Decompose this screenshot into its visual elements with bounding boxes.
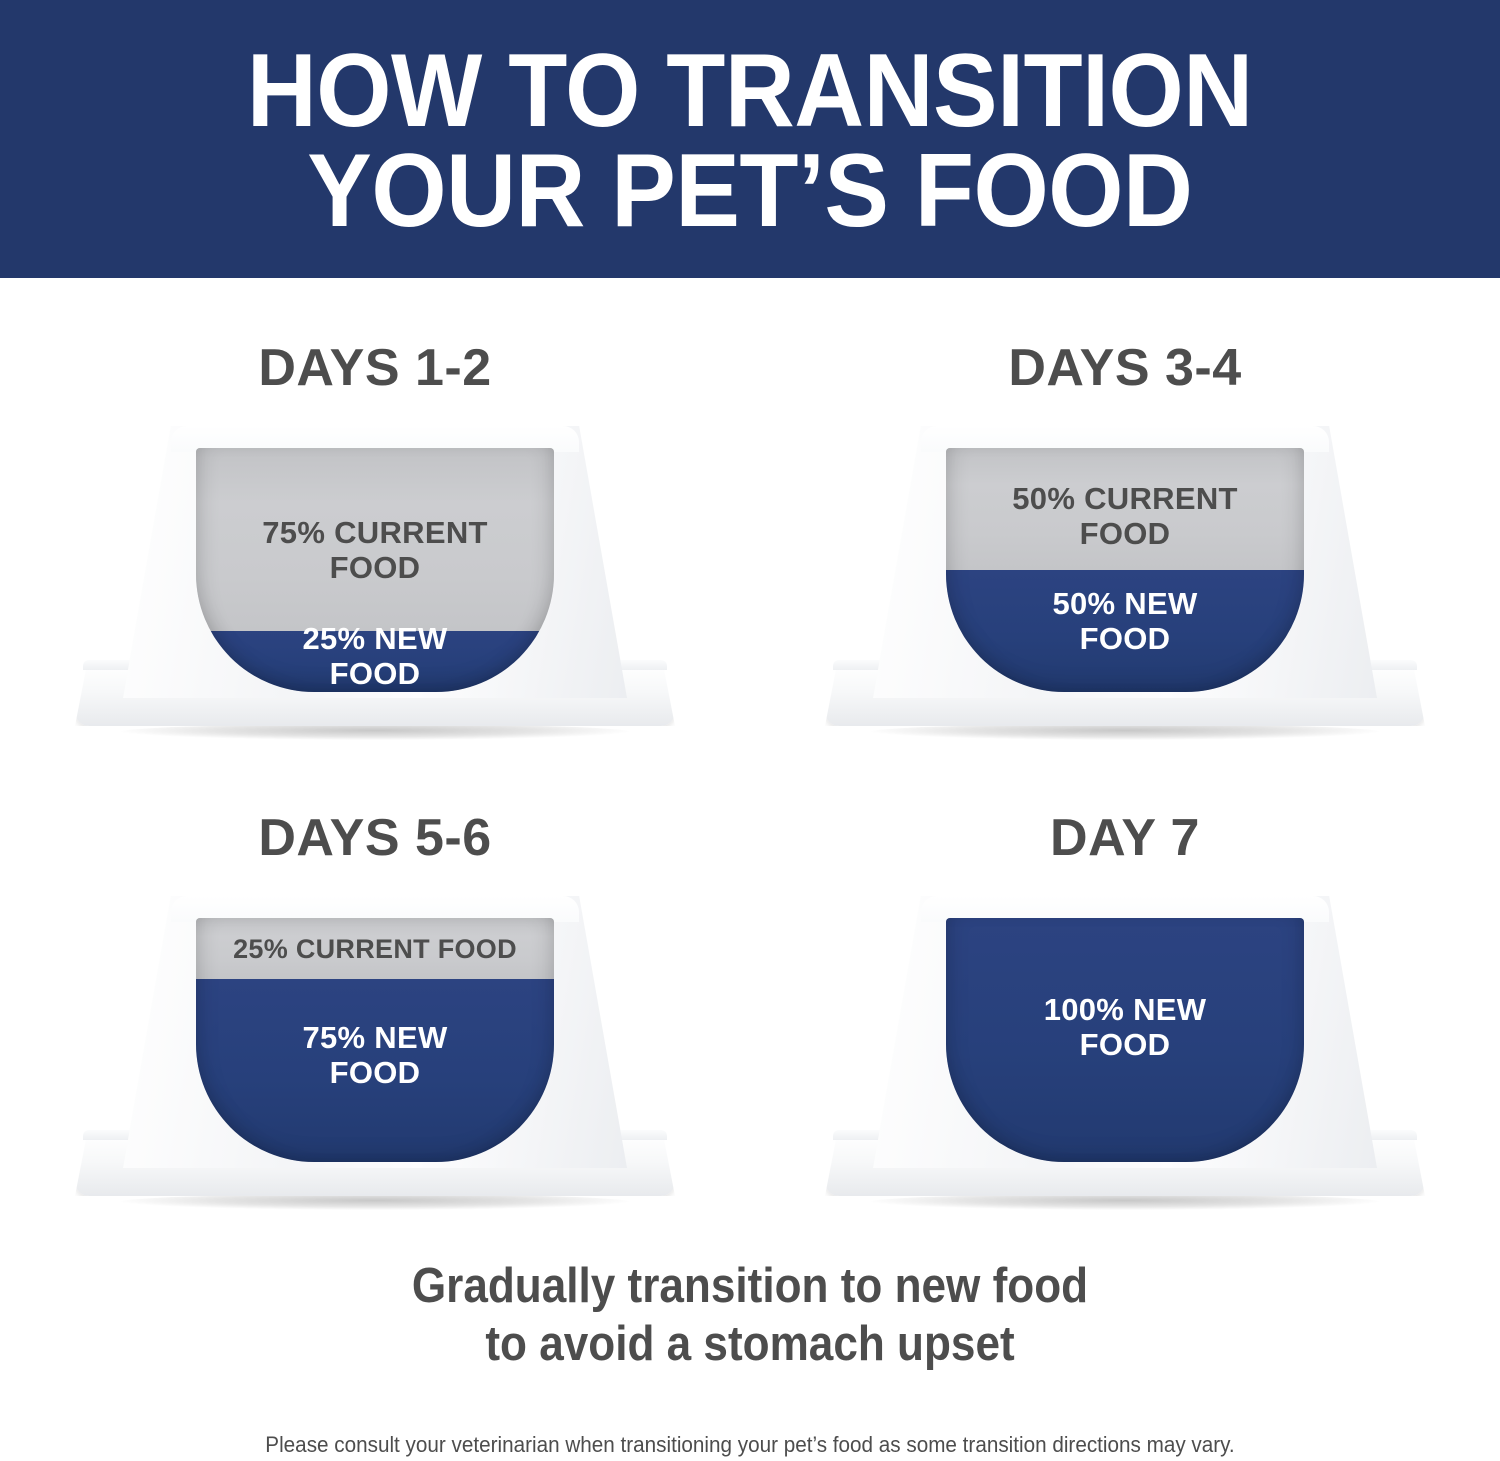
food-bowl: 50% CURRENT FOOD 50% NEW FOOD — [815, 426, 1435, 748]
bowl-well: 50% CURRENT FOOD 50% NEW FOOD — [946, 448, 1304, 692]
step-card-days-5-6: DAYS 5-6 25% CURRENT FOOD 75% NEW FOOD — [0, 748, 750, 1218]
step-card-day-7: DAY 7 100% NEW FOOD — [750, 748, 1500, 1218]
current-food-label: 50% CURRENT FOOD — [946, 482, 1304, 551]
header-title-line1: HOW TO TRANSITION — [247, 44, 1253, 140]
bowl-ground-shadow — [870, 1194, 1380, 1210]
step-title: DAY 7 — [1050, 808, 1200, 868]
bowl-well: 25% CURRENT FOOD 75% NEW FOOD — [196, 918, 554, 1162]
food-bowl: 75% CURRENT FOOD 25% NEW FOOD — [65, 426, 685, 748]
new-food-label: 75% NEW FOOD — [196, 1021, 554, 1090]
bowl-ground-shadow — [120, 1194, 630, 1210]
step-card-days-3-4: DAYS 3-4 50% CURRENT FOOD 50% NEW FOOD — [750, 278, 1500, 748]
header-title-line2: YOUR PET’S FOOD — [307, 144, 1192, 240]
footer-caption-line1: Gradually transition to new food — [75, 1258, 1425, 1316]
new-food-label: 25% NEW FOOD — [196, 622, 554, 691]
step-title: DAYS 3-4 — [1008, 338, 1241, 398]
footer-caption-line2: to avoid a stomach upset — [75, 1316, 1425, 1374]
new-food-label: 100% NEW FOOD — [946, 993, 1304, 1062]
bowl-well: 100% NEW FOOD — [946, 918, 1304, 1162]
bowl-well: 75% CURRENT FOOD 25% NEW FOOD — [196, 448, 554, 692]
current-food-label: 25% CURRENT FOOD — [196, 934, 554, 964]
new-food-label: 50% NEW FOOD — [946, 587, 1304, 656]
step-card-days-1-2: DAYS 1-2 75% CURRENT FOOD 25% NEW FOOD — [0, 278, 750, 748]
footer-disclaimer: Please consult your veterinarian when tr… — [45, 1432, 1455, 1458]
bowl-ground-shadow — [120, 724, 630, 740]
step-title: DAYS 1-2 — [258, 338, 491, 398]
infographic-page: HOW TO TRANSITION YOUR PET’S FOOD DAYS 1… — [0, 0, 1500, 1461]
food-bowl: 25% CURRENT FOOD 75% NEW FOOD — [65, 896, 685, 1218]
current-food-label: 75% CURRENT FOOD — [196, 516, 554, 585]
header-banner: HOW TO TRANSITION YOUR PET’S FOOD — [0, 0, 1500, 278]
steps-grid: DAYS 1-2 75% CURRENT FOOD 25% NEW FOOD D… — [0, 278, 1500, 1258]
step-title: DAYS 5-6 — [258, 808, 491, 868]
footer: Gradually transition to new food to avoi… — [0, 1258, 1500, 1458]
food-bowl: 100% NEW FOOD — [815, 896, 1435, 1218]
bowl-ground-shadow — [870, 724, 1380, 740]
